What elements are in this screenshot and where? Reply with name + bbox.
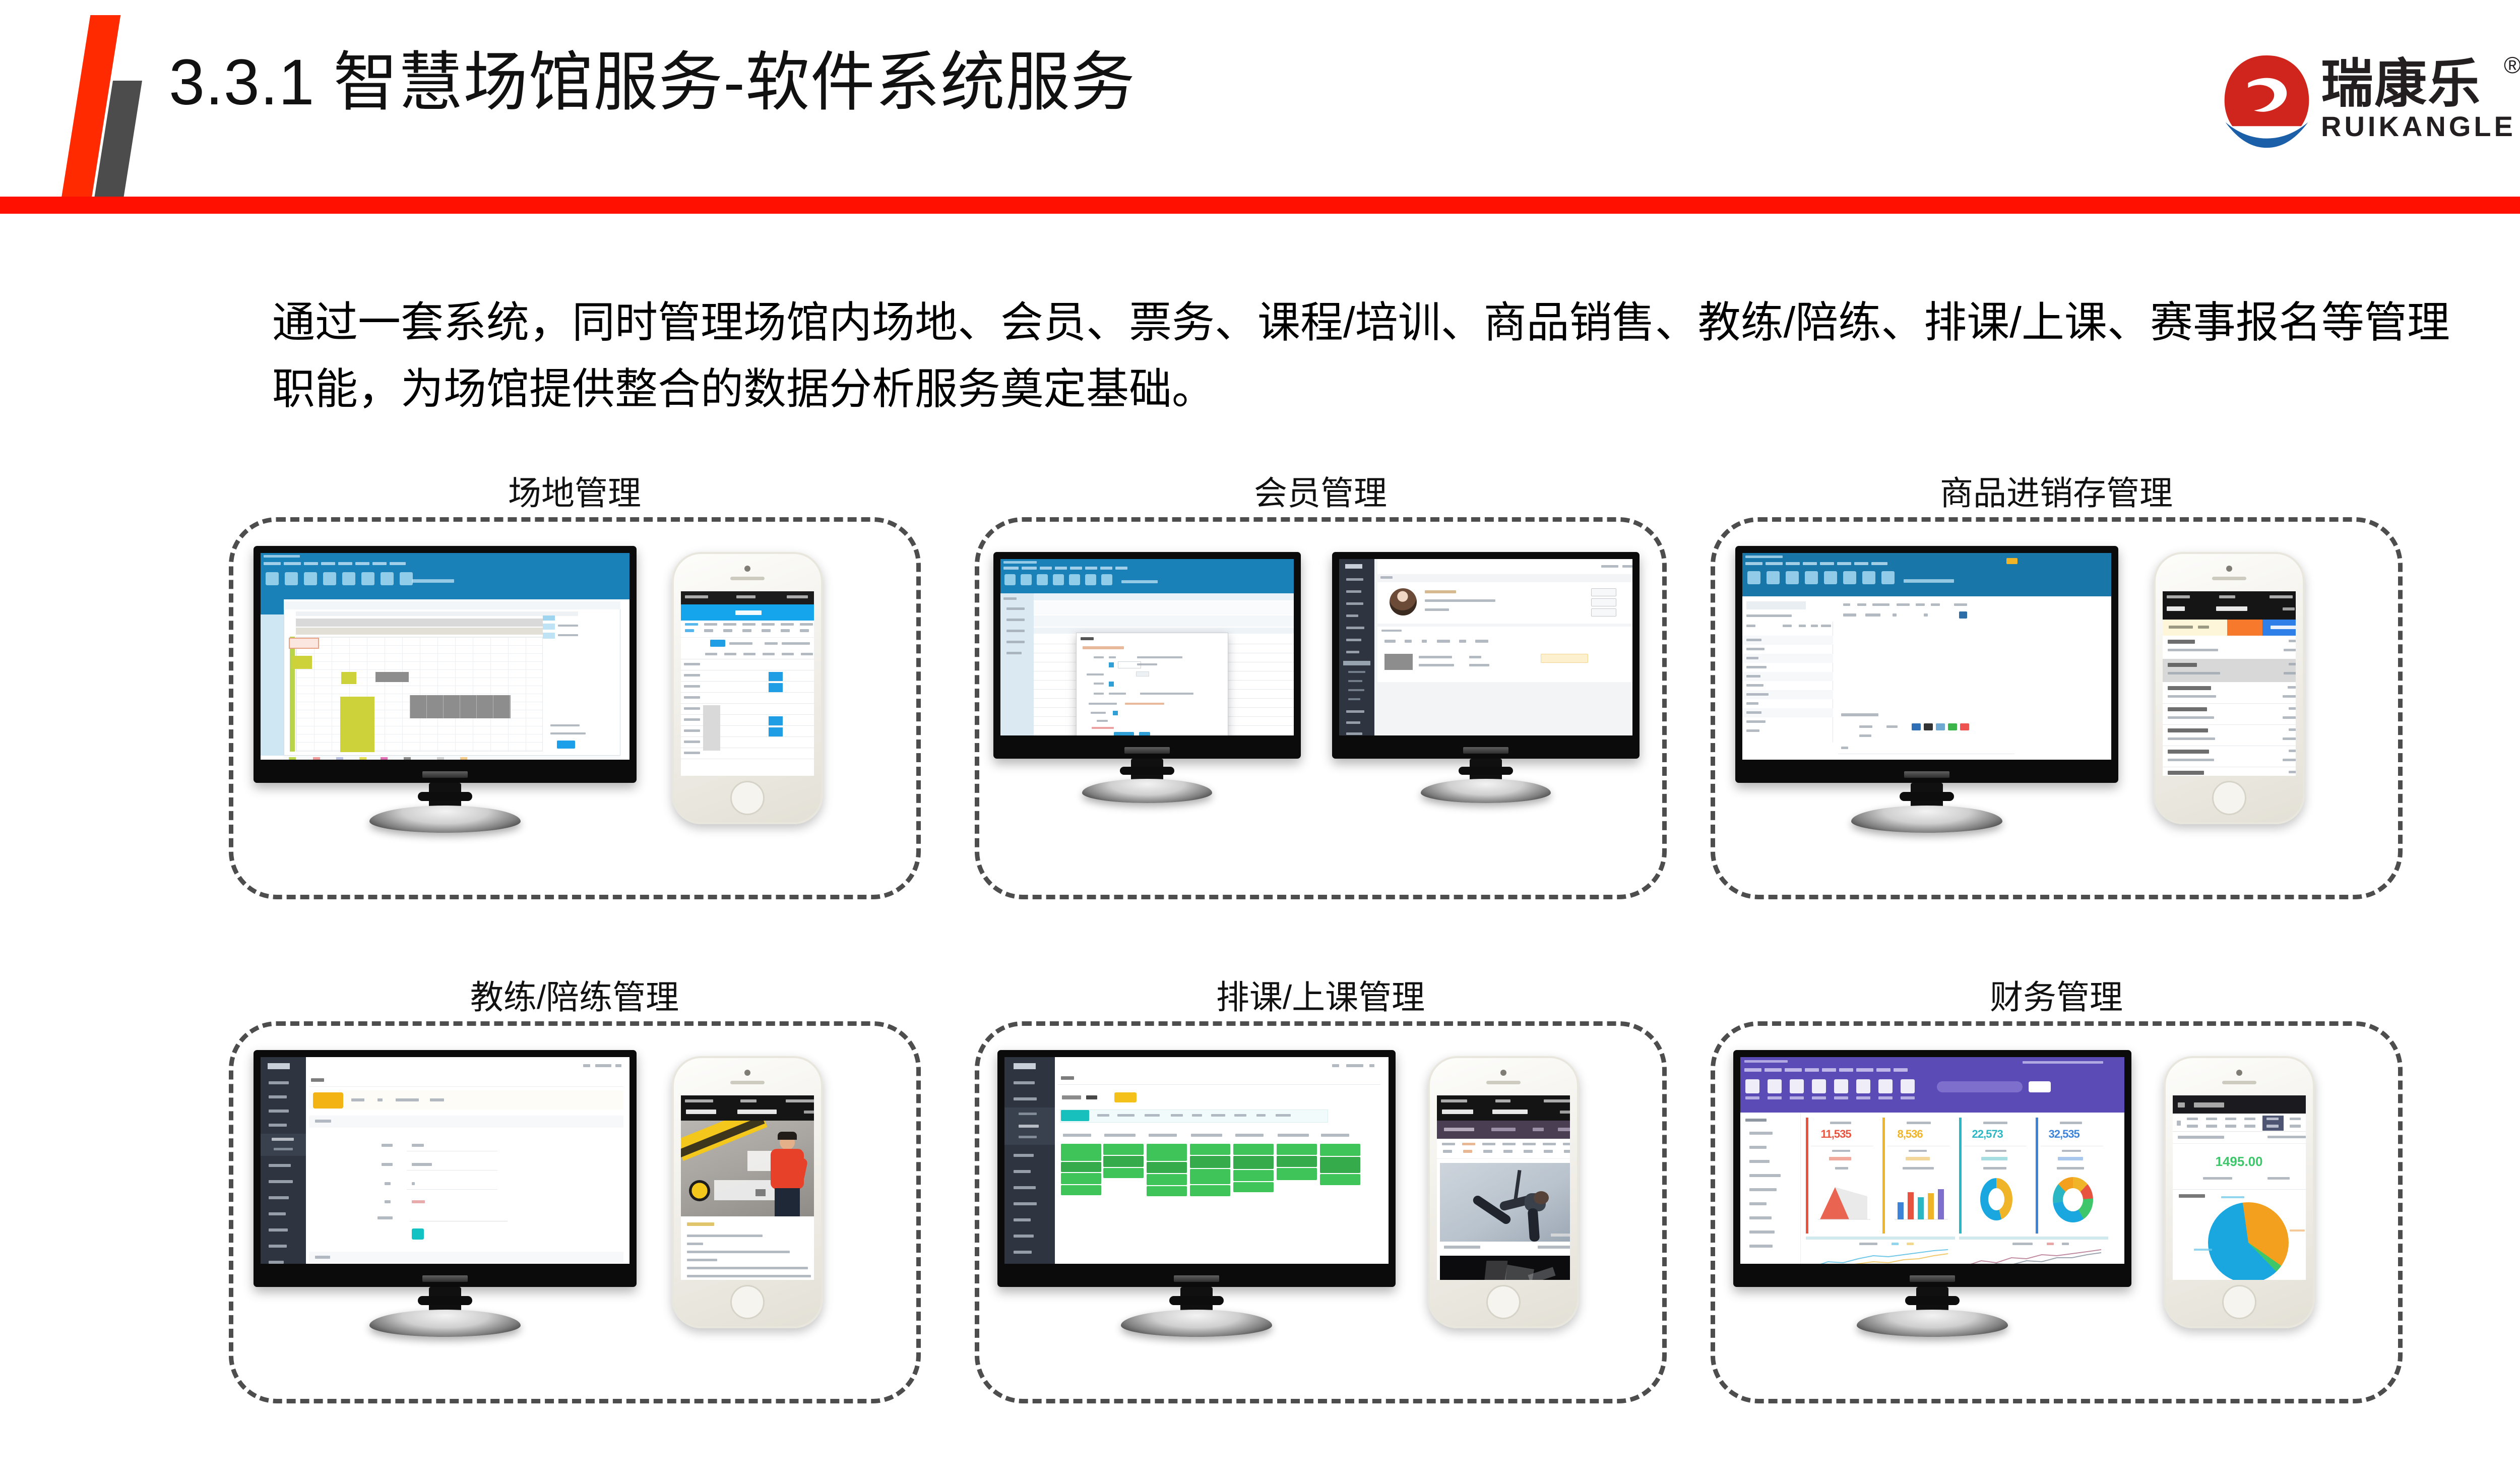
screen-member-list[interactable] (1000, 559, 1294, 735)
card-frame (975, 517, 1667, 899)
ruikangle-mark-icon (2218, 52, 2316, 151)
logo-chinese-name: 瑞康乐 (2321, 57, 2516, 110)
card-caption: 商品进销存管理 (1693, 469, 2419, 517)
card-finance: 财务管理 (1693, 973, 2419, 1403)
intro-paragraph: 通过一套系统，同时管理场馆内场地、会员、票务、课程/培训、商品销售、教练/陪练、… (272, 290, 2460, 423)
dashboard-search-input[interactable] (1937, 1081, 2023, 1092)
slide-header: 3.3.1 智慧场馆服务-软件系统服务 瑞康乐 RUIKANGLE ® (0, 0, 2520, 212)
card-inventory: 商品进销存管理 (1693, 469, 2419, 899)
member-avatar (1390, 588, 1417, 616)
card-frame: 11,535 8,536 22,573 32,535 (1711, 1021, 2403, 1403)
monitor-inventory (1735, 546, 2118, 783)
logo-wordmark: 瑞康乐 RUIKANGLE ® (2321, 57, 2516, 142)
card-member: 会员管理 (958, 469, 1683, 899)
member-dialog[interactable] (1076, 633, 1228, 735)
monitor-coach (254, 1050, 637, 1287)
grid-row-1: 场地管理 (0, 469, 2520, 973)
phone-inventory (2154, 552, 2305, 824)
card-caption: 教练/陪练管理 (212, 973, 937, 1021)
screen-schedule-phone[interactable] (1437, 1095, 1570, 1280)
monitor-finance: 11,535 8,536 22,573 32,535 (1733, 1050, 2131, 1287)
schedule-search-button[interactable] (1114, 1092, 1137, 1102)
kpi-value: 32,535 (2049, 1128, 2080, 1141)
class-photo-dark (1440, 1256, 1570, 1280)
screen-venue-phone[interactable] (681, 591, 814, 776)
screen-coach-desktop[interactable] (261, 1057, 629, 1264)
coach-banner-photo (681, 1121, 814, 1216)
card-frame (229, 517, 921, 899)
phone-finance: 1495.00 (2164, 1056, 2315, 1328)
kpi-value: 11,535 (1821, 1128, 1851, 1141)
income-pie-chart (2208, 1202, 2289, 1280)
screen-inventory-phone[interactable] (2163, 591, 2296, 776)
screen-inventory-desktop[interactable] (1742, 553, 2111, 760)
card-caption: 排课/上课管理 (958, 973, 1683, 1021)
card-caption: 会员管理 (958, 469, 1683, 517)
tab-active[interactable] (313, 1092, 343, 1109)
revenue-line-chart (1808, 1249, 1953, 1264)
finance-amount: 1495.00 (2173, 1154, 2306, 1170)
card-frame (975, 1021, 1667, 1403)
kpi-bar-chart (1887, 1176, 1950, 1222)
screen-member-profile[interactable] (1339, 559, 1632, 735)
cost-line-chart (1961, 1249, 2106, 1264)
card-coach: 教练/陪练管理 (212, 973, 937, 1403)
tab-active[interactable] (1061, 1110, 1089, 1121)
card-venue: 场地管理 (212, 469, 937, 899)
header-red-rule (0, 197, 2520, 214)
phone-schedule (1428, 1056, 1579, 1328)
solution-grid: 场地管理 (0, 469, 2520, 1477)
card-frame (1711, 517, 2403, 899)
monitor-member-list (993, 552, 1301, 759)
screen-schedule-desktop[interactable] (1004, 1057, 1389, 1264)
page-title: 3.3.1 智慧场馆服务-软件系统服务 (169, 50, 1136, 115)
card-caption: 场地管理 (212, 469, 937, 517)
dashboard-search-button[interactable] (2029, 1081, 2051, 1092)
registered-trademark-icon: ® (2504, 51, 2520, 79)
screen-finance-phone[interactable]: 1495.00 (2173, 1095, 2306, 1280)
screen-finance-dashboard[interactable]: 11,535 8,536 22,573 32,535 (1740, 1057, 2124, 1264)
kpi-area-chart (1811, 1176, 1873, 1222)
submit-button[interactable] (412, 1228, 424, 1240)
phone-venue (672, 552, 823, 824)
card-schedule: 排课/上课管理 (958, 973, 1683, 1403)
screen-coach-phone[interactable] (681, 1095, 814, 1280)
kpi-value: 22,573 (1972, 1128, 2003, 1141)
class-photo-yoga (1440, 1163, 1570, 1242)
kpi-value: 8,536 (1898, 1128, 1923, 1141)
card-caption: 财务管理 (1693, 973, 2419, 1021)
brand-logo: 瑞康乐 RUIKANGLE ® (2218, 45, 2520, 161)
monitor-venue (254, 546, 637, 783)
phone-coach (672, 1056, 823, 1328)
card-frame (229, 1021, 921, 1403)
grid-row-2: 教练/陪练管理 (0, 973, 2520, 1477)
monitor-brand-badge (422, 771, 468, 778)
logo-latin-name: RUIKANGLE (2321, 112, 2516, 142)
monitor-schedule (997, 1050, 1396, 1287)
monitor-member-profile (1332, 552, 1640, 759)
screen-venue-desktop[interactable] (261, 553, 629, 760)
